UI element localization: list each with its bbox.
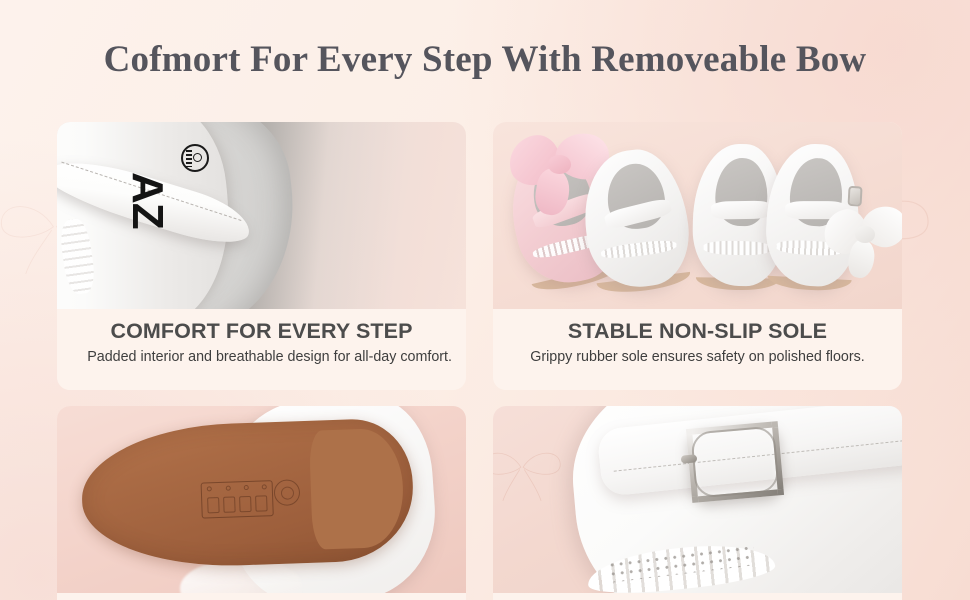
embossed-logo-stamp-icon [273,479,300,506]
buckle-prong [681,454,698,463]
embossed-col [239,496,252,512]
rubber-outsole [79,417,415,571]
card-caption: STABLE NON-SLIP SOLE Grippy rubber sole … [493,309,902,390]
card-description: Grippy rubber sole ensures safety on pol… [505,348,890,367]
page-title: Cofmort For Every Step With Removeable B… [0,38,970,81]
outsole-photo [57,406,466,593]
embossed-size-box [200,480,273,518]
card-title: STABLE NON-SLIP SOLE [505,319,890,344]
embossed-dots [206,484,266,493]
buckle-closeup-photo [493,406,902,593]
stamp-ring [193,153,202,162]
card-description: Padded interior and breathable design fo… [69,348,454,367]
circular-brand-stamp-icon [181,144,209,172]
card-caption: COMFORT FOR EVERY STEP Padded interior a… [57,309,466,390]
shoe-strap [712,201,773,221]
bow-watermark-icon [493,432,567,507]
brand-text-az: AZ [122,172,172,229]
bow-knot [855,226,875,243]
embossed-col [223,497,236,513]
feature-card-nonslip-bottom[interactable]: STABLE NON-SLIP SOLE Grippy rubber sole … [57,406,466,600]
feature-card-grid: AZ COMFORT FOR EVERY STEP Padded interio… [57,122,902,600]
feature-card-buckle[interactable]: BUCKLE STRAP FIT Custom fit with secure … [493,406,902,600]
metal-buckle-icon [686,421,784,503]
card-caption: BUCKLE STRAP FIT Custom fit with secure … [493,593,902,600]
white-shoe-left [577,144,695,292]
feature-card-comfort[interactable]: AZ COMFORT FOR EVERY STEP Padded interio… [57,122,466,390]
white-bow-icon [824,204,902,275]
embossed-col [255,495,268,511]
stamp-bars [186,150,192,167]
feature-card-nonslip-top[interactable]: STABLE NON-SLIP SOLE Grippy rubber sole … [493,122,902,390]
embossed-col [207,497,220,513]
shoe-insole-closeup-photo: AZ [57,122,466,309]
textured-heel-pad [308,427,405,550]
card-caption: STABLE NON-SLIP SOLE Grippy rubber sole … [57,593,466,600]
page-background: Cofmort For Every Step With Removeable B… [0,0,970,600]
card-title: COMFORT FOR EVERY STEP [69,319,454,344]
scalloped-edge-detail [704,240,772,255]
bow-knot [548,155,570,174]
four-shoes-group-photo [493,122,902,309]
